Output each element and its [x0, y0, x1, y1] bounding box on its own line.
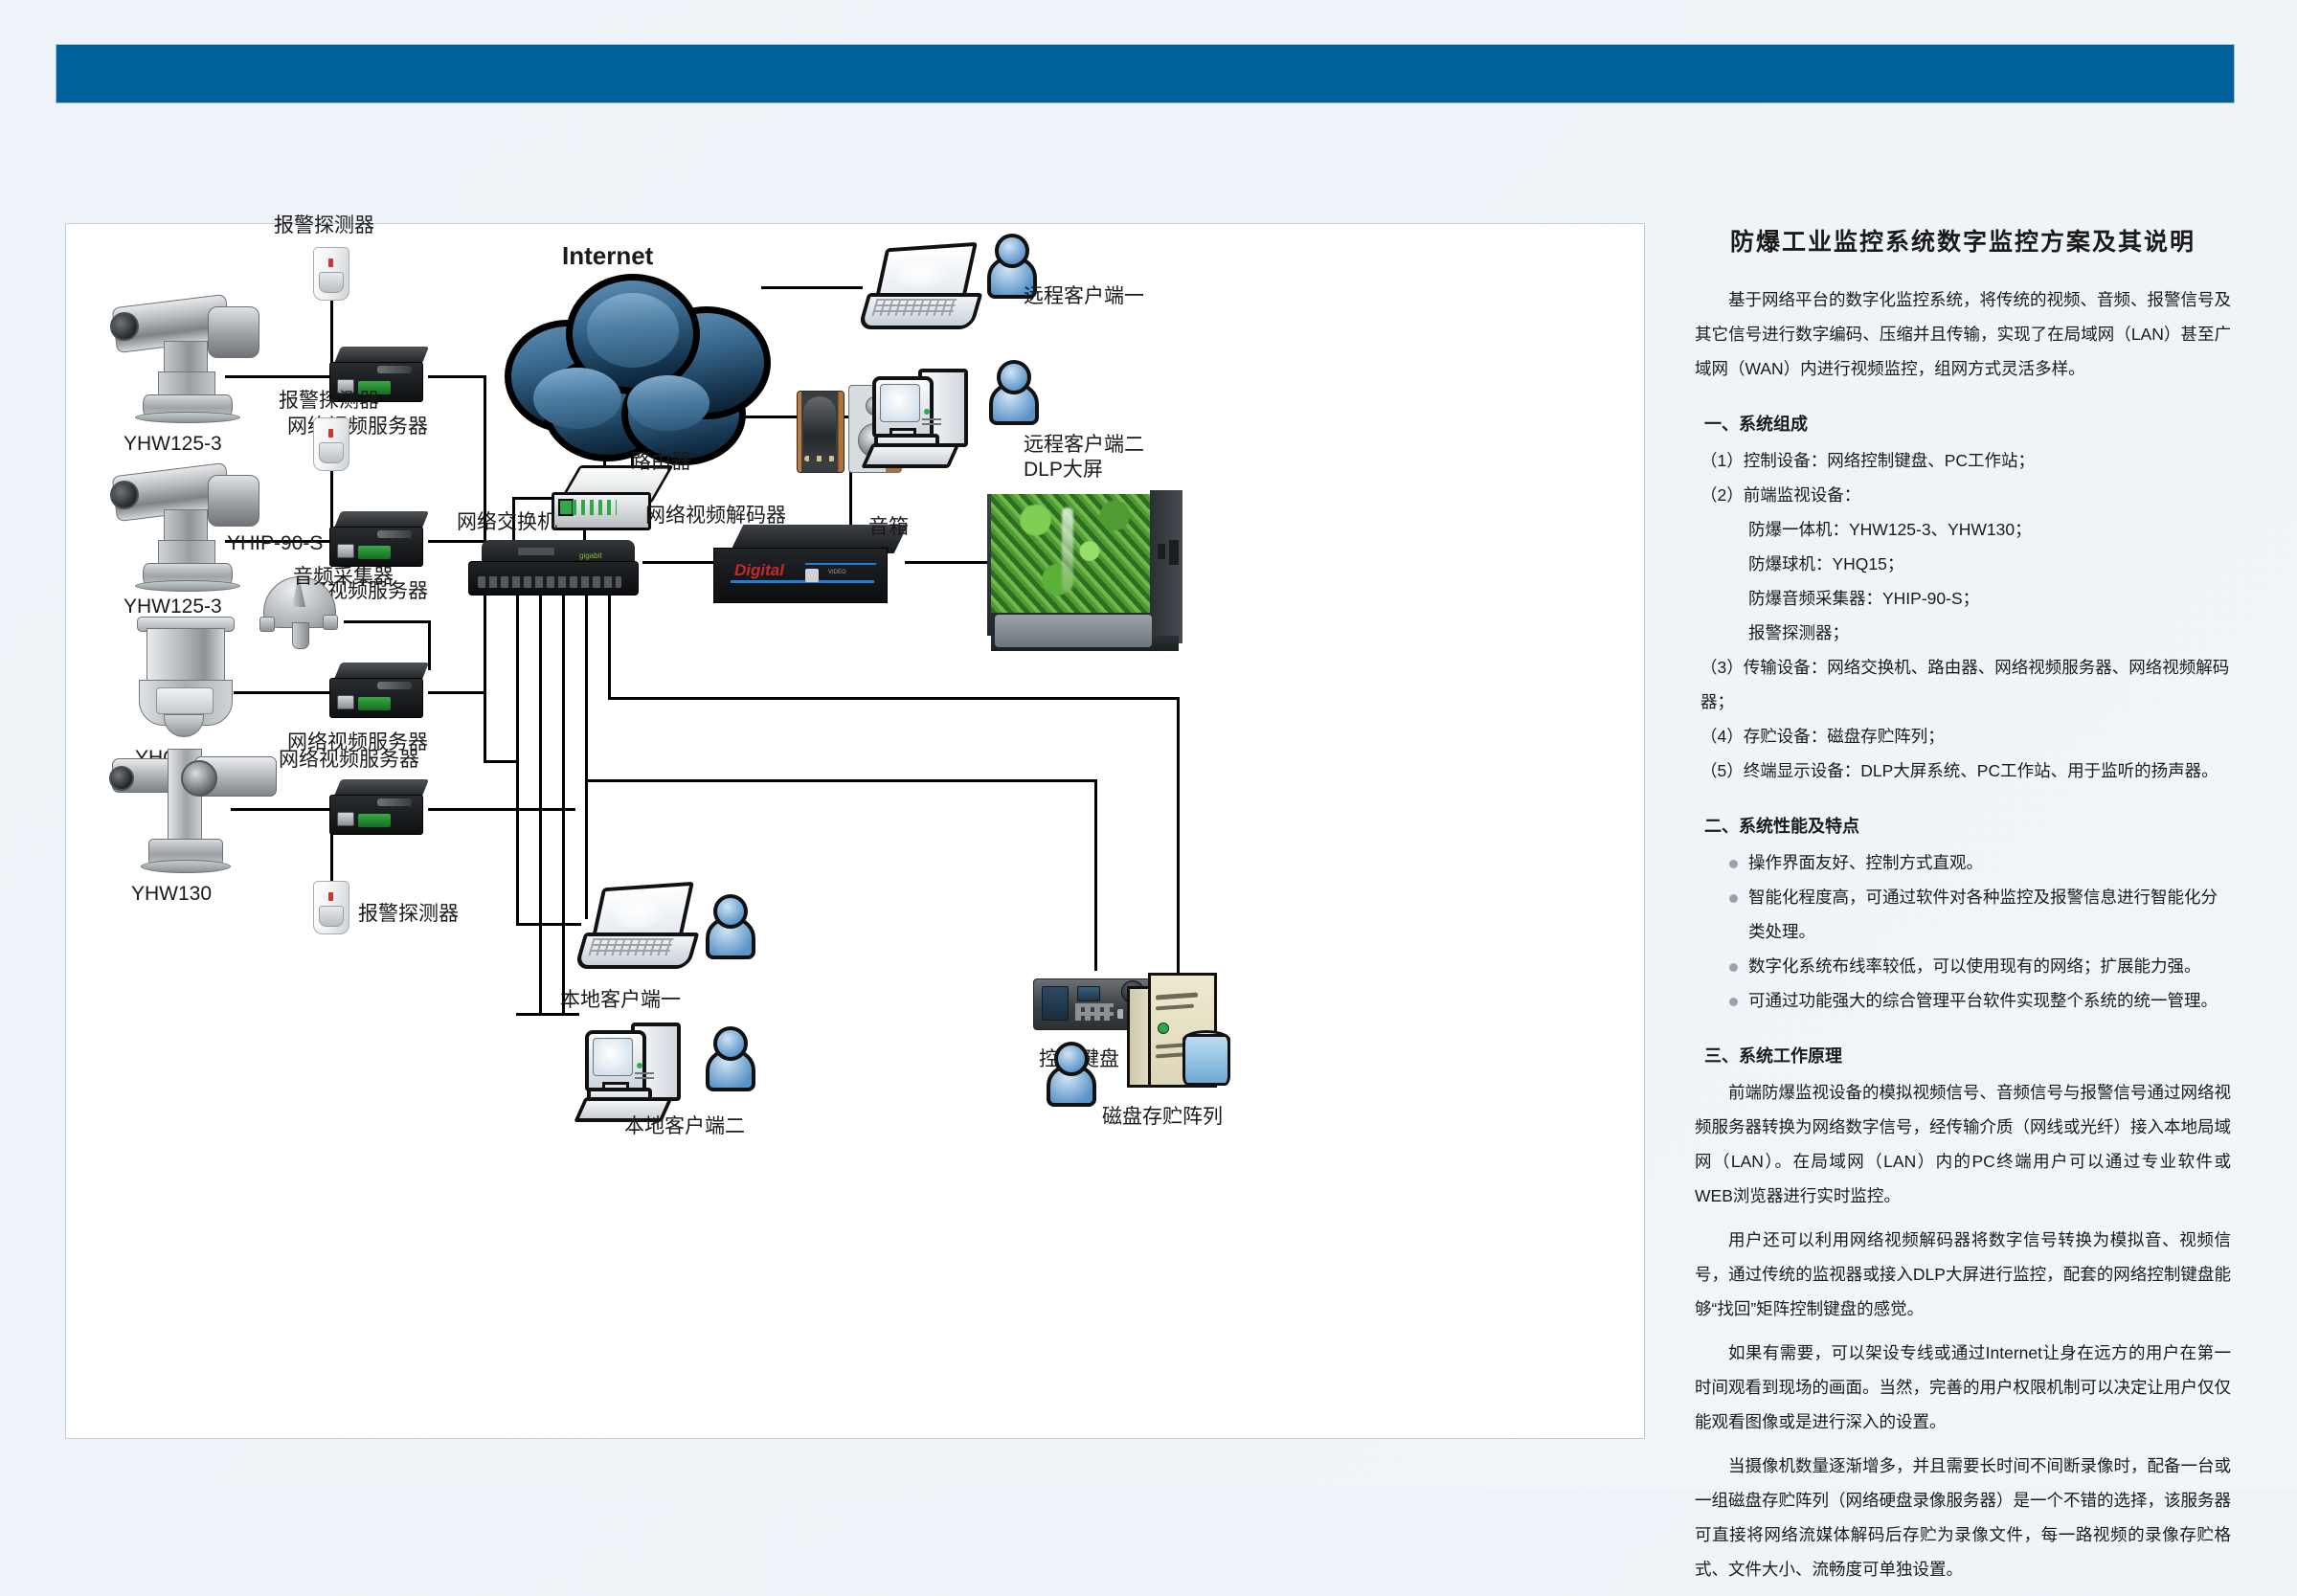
- local-client-1-laptop[interactable]: [579, 885, 694, 969]
- router-label: 路由器: [631, 446, 691, 475]
- camera-yhw125-3-top[interactable]: [114, 293, 277, 422]
- link-to-keyboard-h: [585, 779, 1094, 782]
- camera-yhw125-3-top-label: YHW125-3: [124, 433, 222, 456]
- section-1-sub-3: 防爆音频采集器：YHIP-90-S；: [1748, 581, 2231, 616]
- section-2-bullet-1: 操作界面友好、控制方式直观。: [1727, 845, 2231, 880]
- switch-down-3: [562, 594, 565, 1013]
- alarm-detector-2-label: 报警探测器: [279, 385, 379, 414]
- section-3-paragraph-2: 用户还可以利用网络视频解码器将数字信号转换为模拟音、视频信号，通过传统的监视器或…: [1695, 1223, 2231, 1326]
- laptop-icon: [579, 885, 694, 969]
- remote-client-2-pc[interactable]: [867, 363, 981, 464]
- switch-down-1: [516, 594, 519, 923]
- alarm-detector-1[interactable]: [313, 247, 351, 303]
- laptop-icon: [863, 245, 978, 329]
- section-2-bullet-3: 数字化系统布线率较低，可以使用现有的网络；扩展能力强。: [1727, 949, 2231, 983]
- storage-user: [1045, 1042, 1091, 1101]
- camera-yhw130[interactable]: [112, 747, 280, 881]
- link-to-storage-v: [1177, 697, 1180, 973]
- remote-client-1-label: 远程客户端一: [1024, 281, 1144, 309]
- remote-client-1-laptop[interactable]: [863, 245, 978, 329]
- desktop-pc-icon: [579, 1017, 694, 1118]
- disk-storage-array-label: 磁盘存贮阵列: [1102, 1101, 1223, 1130]
- document-text-column: 防爆工业监控系统数字监控方案及其说明 基于网络平台的数字化监控系统，将传统的视频…: [1695, 223, 2231, 1596]
- link-to-storage-h: [608, 697, 1179, 700]
- switch-icon: gigabit: [468, 540, 642, 603]
- section-1-sub-1: 防爆一体机：YHW125-3、YHW130；: [1748, 512, 2231, 547]
- camera-yhw130-label: YHW130: [131, 883, 212, 906]
- section-1-item-3: （3）传输设备：网络交换机、路由器、网络视频服务器、网络视频解码器；: [1700, 650, 2231, 719]
- disk-storage-array[interactable]: [1127, 973, 1232, 1093]
- video-server-1-label: 网络视频服务器: [287, 411, 428, 439]
- pir-detector-icon: [313, 247, 351, 303]
- section-3-heading: 三、系统工作原理: [1704, 1039, 2231, 1073]
- network-switch-label: 网络交换机: [457, 506, 557, 535]
- alarm-detector-1-label: 报警探测器: [274, 210, 374, 238]
- page-header-bar: [56, 44, 2235, 103]
- video-decoder-label: 网络视频解码器: [645, 500, 786, 528]
- section-3-paragraph-1: 前端防爆监视设备的模拟视频信号、音频信号与报警信号通过网络视频服务器转换为网络数…: [1695, 1075, 2231, 1213]
- link-decoder-to-speaker: [849, 469, 852, 530]
- cloud-to-remote1: [761, 286, 863, 289]
- link-server1-to-bus: [428, 375, 485, 378]
- link-server4-to-bus: [428, 808, 575, 811]
- audio-collector-model-label: YHIP-90-S: [227, 532, 323, 555]
- ptz-camera-icon: [114, 293, 277, 422]
- section-1-heading: 一、系统组成: [1704, 407, 2231, 441]
- user-avatar-icon: [987, 360, 1033, 419]
- left-bus-into-switch: [484, 760, 518, 763]
- speakers-label: 音箱: [868, 511, 909, 540]
- network-diagram-panel: YHW125-3 报警探测器 网络视频服务器 YHW125-3 报警探测器 网络…: [65, 223, 1645, 1439]
- switch-down-4: [585, 594, 588, 919]
- remote-client-2-label: 远程客户端二: [1024, 429, 1144, 458]
- video-server-3[interactable]: [329, 663, 431, 722]
- local-client-2-label: 本地客户端二: [624, 1111, 745, 1139]
- video-server-icon: [329, 663, 431, 722]
- section-3-paragraph-4: 当摄像机数量逐渐增多，并且需要长时间不间断录像时，配备一台或一组磁盘存贮阵列（网…: [1695, 1449, 2231, 1586]
- user-avatar-icon: [704, 894, 750, 954]
- local-client-1-label: 本地客户端一: [560, 984, 681, 1013]
- video-server-icon: [329, 779, 431, 839]
- link-audio-to-server3: [344, 620, 431, 623]
- alarm-detector-3[interactable]: [313, 881, 351, 936]
- section-3-paragraph-3: 如果有需要，可以架设专线或通过Internet让身在远方的用户在第一时间观看到现…: [1695, 1336, 2231, 1439]
- link-decoder-to-dlp: [905, 561, 993, 564]
- alarm-detector-2[interactable]: [313, 417, 351, 473]
- pir-detector-icon: [313, 881, 351, 936]
- section-1-item-4: （4）存贮设备：磁盘存贮阵列；: [1700, 719, 2231, 753]
- desktop-pc-icon: [867, 363, 981, 464]
- local-client-1-user: [704, 894, 750, 954]
- section-2-bullet-4: 可通过功能强大的综合管理平台软件实现整个系统的统一管理。: [1727, 983, 2231, 1018]
- switch-down-2: [539, 594, 542, 1013]
- section-2-bullet-2: 智能化程度高，可通过软件对各种监控及报警信息进行智能化分类处理。: [1727, 880, 2231, 949]
- section-1-sub-4: 报警探测器；: [1748, 616, 2231, 650]
- switch-down-5: [608, 594, 611, 697]
- user-avatar-icon: [1045, 1042, 1091, 1101]
- camera-yhw125-3-second-label: YHW125-3: [124, 596, 222, 618]
- local-client-2-user: [704, 1026, 750, 1086]
- decoder-brand-label: Digital: [734, 561, 784, 580]
- intro-paragraph: 基于网络平台的数字化监控系统，将传统的视频、音频、报警信号及其它信号进行数字编码…: [1695, 282, 2231, 386]
- link-to-keyboard-v: [1094, 779, 1097, 971]
- camera-yhw125-3-second[interactable]: [114, 461, 277, 591]
- alarm-detector-3-label: 报警探测器: [358, 898, 459, 927]
- user-avatar-icon: [704, 1026, 750, 1086]
- dual-head-ptz-camera-icon: [112, 747, 280, 881]
- audio-collector-label: 音频采集器: [293, 561, 394, 590]
- dlp-large-screen-label: DLP大屏: [1024, 454, 1103, 483]
- pir-detector-icon: [313, 417, 351, 473]
- document-title: 防爆工业监控系统数字监控方案及其说明: [1695, 223, 2231, 258]
- dlp-large-screen[interactable]: [987, 490, 1186, 661]
- section-2-heading: 二、系统性能及特点: [1704, 809, 2231, 843]
- dome-camera-yhq15[interactable]: [135, 617, 236, 741]
- link-to-local-client1: [516, 923, 581, 926]
- video-server-4[interactable]: [329, 779, 431, 839]
- ptz-camera-icon: [114, 461, 277, 591]
- cloud-icon: [499, 264, 767, 461]
- section-1-item-5: （5）终端显示设备：DLP大屏系统、PC工作站、用于监听的扬声器。: [1700, 753, 2231, 788]
- section-1-item-2: （2）前端监视设备：: [1700, 478, 2231, 512]
- remote-client-2-user: [987, 360, 1033, 419]
- video-server-4-title: 网络视频服务器: [279, 744, 419, 773]
- link-server3-to-bus: [428, 691, 484, 694]
- network-switch[interactable]: gigabit: [468, 540, 642, 603]
- internet-cloud[interactable]: [499, 264, 767, 461]
- local-client-2-pc[interactable]: [579, 1017, 694, 1118]
- dlp-screen-icon: [987, 490, 1186, 661]
- link-to-local-client2: [516, 1013, 579, 1016]
- section-1-item-1: （1）控制设备：网络控制键盘、PC工作站；: [1700, 443, 2231, 478]
- storage-array-icon: [1127, 973, 1232, 1093]
- dome-camera-icon: [135, 617, 236, 741]
- section-1-sub-2: 防爆球机：YHQ15；: [1748, 547, 2231, 581]
